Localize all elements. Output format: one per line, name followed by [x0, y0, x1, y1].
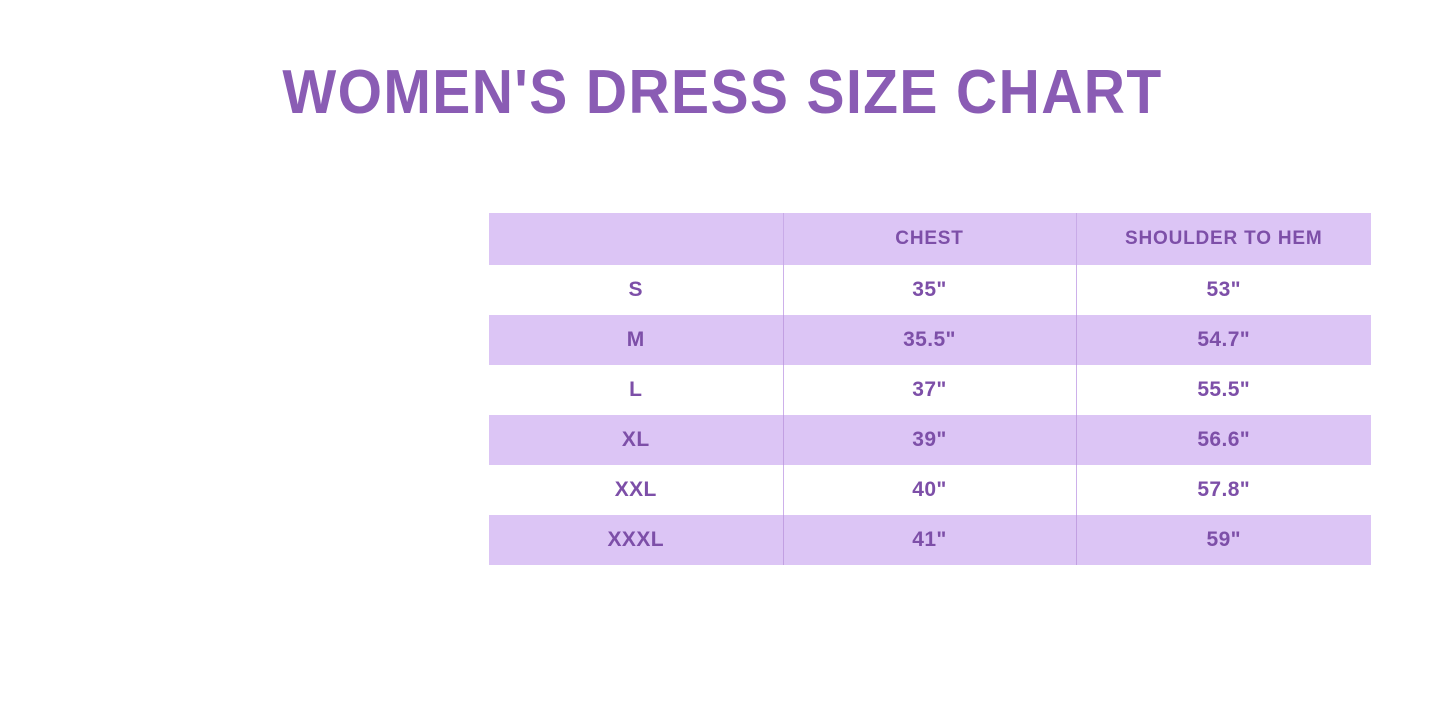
- size-chart-table: CHEST SHOULDER TO HEM S 35" 53" M 35.5" …: [489, 213, 1371, 565]
- table-header: CHEST SHOULDER TO HEM: [489, 213, 1371, 265]
- cell-chest: 39": [783, 415, 1076, 465]
- cell-shoulder-to-hem: 54.7": [1076, 315, 1371, 365]
- cell-chest: 37": [783, 365, 1076, 415]
- page-title: WOMEN'S DRESS SIZE CHART: [58, 55, 1387, 131]
- table-row: L 37" 55.5": [489, 365, 1371, 415]
- cell-size: M: [489, 315, 783, 365]
- cell-shoulder-to-hem: 53": [1076, 265, 1371, 315]
- size-chart-table-wrapper: CHEST SHOULDER TO HEM S 35" 53" M 35.5" …: [489, 213, 1371, 565]
- table-row: XXL 40" 57.8": [489, 465, 1371, 515]
- table-row: M 35.5" 54.7": [489, 315, 1371, 365]
- size-chart-page: WOMEN'S DRESS SIZE CHART CHEST SHOULDER …: [0, 0, 1445, 723]
- cell-shoulder-to-hem: 55.5": [1076, 365, 1371, 415]
- cell-chest: 35": [783, 265, 1076, 315]
- column-header-size: [489, 213, 783, 265]
- table-row: S 35" 53": [489, 265, 1371, 315]
- cell-chest: 40": [783, 465, 1076, 515]
- cell-chest: 35.5": [783, 315, 1076, 365]
- table-body: S 35" 53" M 35.5" 54.7" L 37" 55.5" XL 3…: [489, 265, 1371, 565]
- cell-chest: 41": [783, 515, 1076, 565]
- cell-shoulder-to-hem: 59": [1076, 515, 1371, 565]
- table-header-row: CHEST SHOULDER TO HEM: [489, 213, 1371, 265]
- table-row: XL 39" 56.6": [489, 415, 1371, 465]
- column-header-shoulder-to-hem: SHOULDER TO HEM: [1076, 213, 1371, 265]
- cell-shoulder-to-hem: 56.6": [1076, 415, 1371, 465]
- cell-size: S: [489, 265, 783, 315]
- table-row: XXXL 41" 59": [489, 515, 1371, 565]
- cell-shoulder-to-hem: 57.8": [1076, 465, 1371, 515]
- cell-size: XXXL: [489, 515, 783, 565]
- cell-size: L: [489, 365, 783, 415]
- cell-size: XXL: [489, 465, 783, 515]
- column-header-chest: CHEST: [783, 213, 1076, 265]
- cell-size: XL: [489, 415, 783, 465]
